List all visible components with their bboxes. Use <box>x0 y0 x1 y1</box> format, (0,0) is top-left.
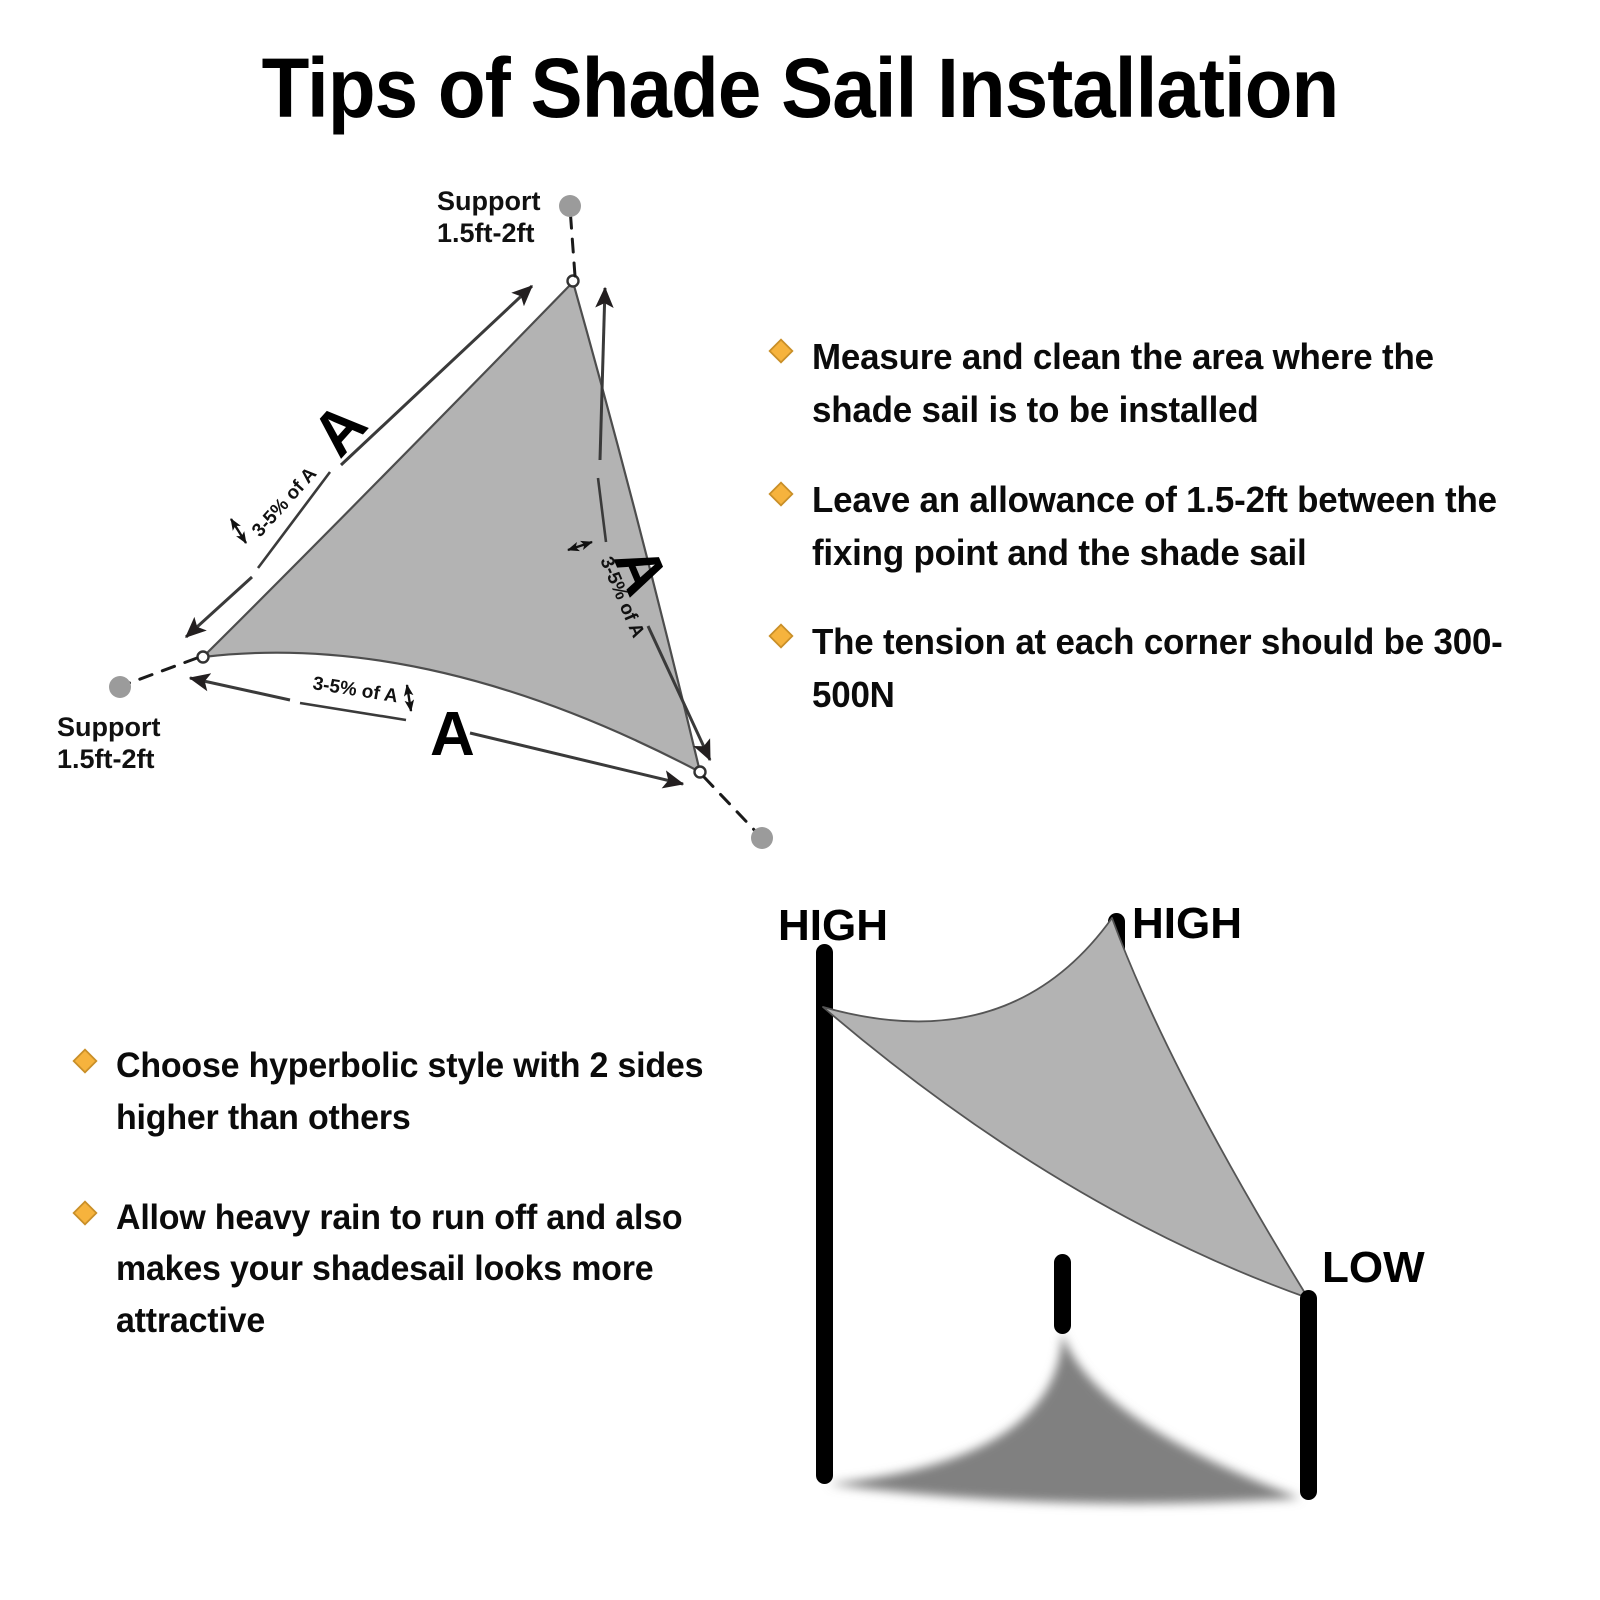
shade-sail-triangle-diagram: Support 1.5ft-2ft Support 1.5ft-2ft Supp… <box>0 160 780 900</box>
diamond-bullet-icon <box>768 481 794 507</box>
edge-curve-label-upper-left: 3-5% of A <box>248 463 321 541</box>
corner-eyelet-left <box>198 652 209 663</box>
list-item-label: Measure and clean the area where the sha… <box>812 330 1536 437</box>
pole-right-low <box>1300 1290 1317 1500</box>
support-label-left-line2: 1.5ft-2ft <box>57 744 155 774</box>
edge-length-label-upper-left: A <box>299 390 380 469</box>
support-label-top-line2: 1.5ft-2ft <box>437 218 535 248</box>
diamond-bullet-icon <box>768 338 794 364</box>
support-label-top-line1: Support <box>437 186 540 216</box>
pole-left <box>816 944 833 1484</box>
pole-middle <box>1054 1254 1071 1334</box>
support-anchor-dot-bottom-right <box>751 827 773 849</box>
support-label-left-line1: Support <box>57 712 160 742</box>
ground-shadow <box>828 1332 1300 1504</box>
dimension-arrow-bottom-a <box>190 678 290 700</box>
list-item: The tension at each corner should be 300… <box>768 615 1558 722</box>
list-item: Measure and clean the area where the sha… <box>768 330 1558 437</box>
corner-eyelet-top <box>568 276 579 287</box>
tips-list-lower: Choose hyperbolic style with 2 sides hig… <box>72 1040 792 1395</box>
support-tether-bottom-right <box>704 777 760 836</box>
page-title: Tips of Shade Sail Installation <box>56 44 1544 132</box>
corner-label-high-left: HIGH <box>778 901 888 950</box>
hyperbolic-sail-shape <box>823 918 1308 1298</box>
hyperbolic-shade-sail-diagram: HIGH HIGH LOW <box>760 900 1600 1540</box>
tips-list-upper: Measure and clean the area where the sha… <box>768 330 1558 758</box>
list-item: Allow heavy rain to run off and also mak… <box>72 1192 792 1347</box>
list-item-label: The tension at each corner should be 300… <box>812 615 1536 722</box>
support-anchor-dot-left <box>109 676 131 698</box>
list-item: Choose hyperbolic style with 2 sides hig… <box>72 1040 792 1144</box>
support-tether-top <box>570 208 575 276</box>
edge-curve-label-bottom: 3-5% of A <box>311 673 399 707</box>
list-item-label: Leave an allowance of 1.5-2ft between th… <box>812 473 1536 580</box>
list-item: Leave an allowance of 1.5-2ft between th… <box>768 473 1558 580</box>
dimension-tick-bottom-offset <box>407 685 411 711</box>
list-item-label: Choose hyperbolic style with 2 sides hig… <box>116 1040 772 1144</box>
diamond-bullet-icon <box>72 1048 98 1074</box>
list-item-label: Allow heavy rain to run off and also mak… <box>116 1192 772 1347</box>
dimension-tick-upper-left-offset <box>231 519 246 543</box>
support-anchor-dot-top <box>559 195 581 217</box>
corner-label-low: LOW <box>1322 1243 1425 1292</box>
diamond-bullet-icon <box>768 623 794 649</box>
edge-length-label-bottom: A <box>430 700 475 769</box>
diamond-bullet-icon <box>72 1200 98 1226</box>
corner-label-high-right: HIGH <box>1132 900 1242 948</box>
support-tether-left <box>124 658 197 685</box>
